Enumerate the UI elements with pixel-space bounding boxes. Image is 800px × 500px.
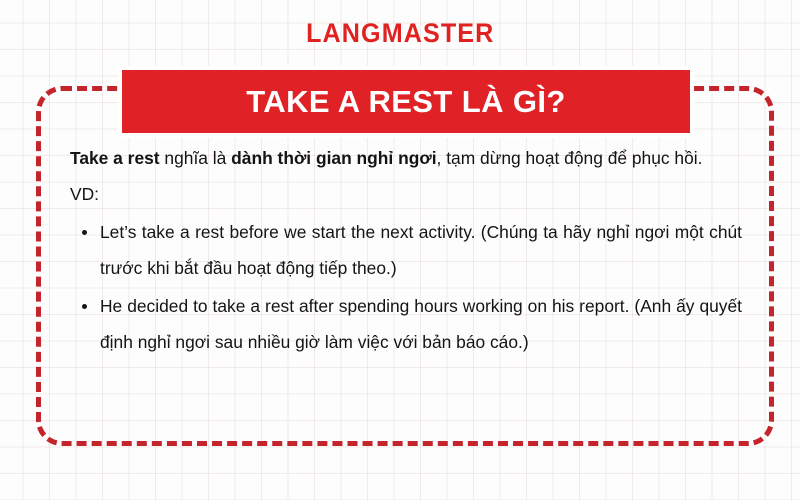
definition-paragraph: Take a rest nghĩa là dành thời gian nghỉ… <box>70 140 742 176</box>
definition-connector: nghĩa là <box>160 148 232 168</box>
brand-logo-text: LANGMASTER <box>306 18 494 49</box>
definition-remainder: , tạm dừng hoạt động để phục hồi. <box>437 148 703 168</box>
definition-meaning: dành thời gian nghỉ ngơi <box>231 148 436 168</box>
examples-label: VD: <box>70 176 742 212</box>
title-banner: TAKE A REST LÀ GÌ? <box>122 70 690 133</box>
examples-list: Let’s take a rest before we start the ne… <box>70 214 742 360</box>
list-item: He decided to take a rest after spending… <box>70 288 742 360</box>
page-title: TAKE A REST LÀ GÌ? <box>246 86 566 117</box>
definition-term: Take a rest <box>70 148 160 168</box>
content-body: Take a rest nghĩa là dành thời gian nghỉ… <box>70 140 742 360</box>
list-item: Let’s take a rest before we start the ne… <box>70 214 742 286</box>
brand-logo: LANGMASTER <box>0 18 800 49</box>
